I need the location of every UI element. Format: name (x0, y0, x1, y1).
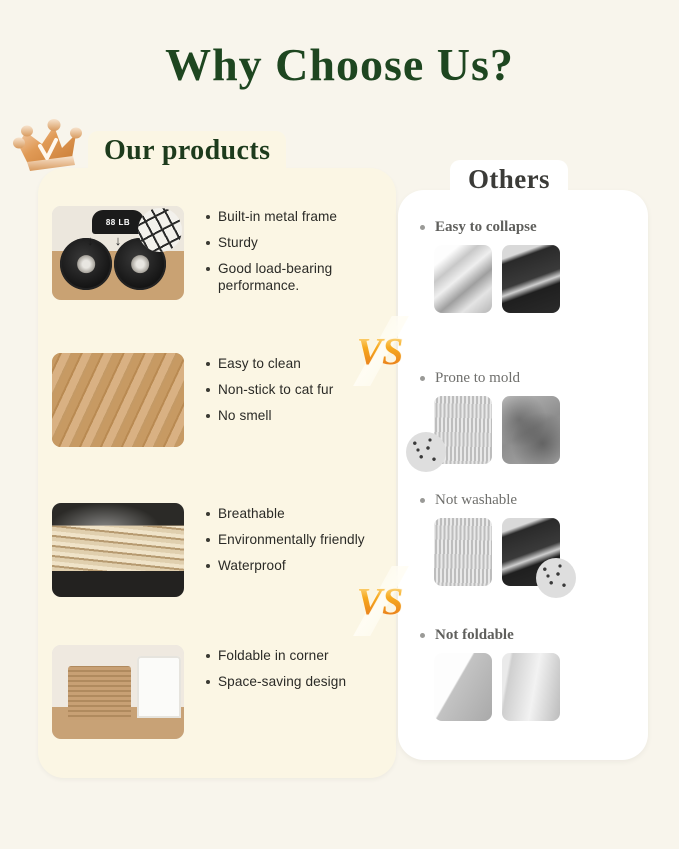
other-row-4-images (420, 653, 635, 721)
list-item-label: Built-in metal frame (218, 208, 337, 225)
list-item-label: Waterproof (218, 557, 286, 574)
ribbed-fabric-photo (434, 518, 492, 586)
list-item: Good load-bearing performance. (206, 260, 388, 294)
svg-text:VS: VS (357, 581, 403, 623)
metal-frame-weights-photo: 88 LB ↓↓↓ (52, 206, 184, 300)
other-row-3-label: Not washable (420, 492, 635, 509)
list-item: Breathable (206, 505, 388, 522)
others-badge: Others (450, 160, 568, 202)
bullet-dot (206, 414, 210, 418)
collapsed-fabric-photo (434, 245, 492, 313)
folded-litter-box-photo (52, 645, 184, 739)
list-item: Built-in metal frame (206, 208, 388, 225)
product-row-2: Easy to clean Non-stick to cat fur No sm… (52, 353, 388, 447)
breathable-weave-photo (52, 503, 184, 597)
list-item-label: Easy to clean (218, 355, 301, 372)
crown-icon (10, 118, 86, 180)
product-row-1: 88 LB ↓↓↓ Built-in metal frame Sturdy Go… (52, 206, 388, 304)
product-row-4: Foldable in corner Space-saving design (52, 645, 388, 739)
other-row-label-text: Prone to mold (435, 370, 520, 387)
list-item-label: Breathable (218, 505, 285, 522)
weight-capacity-badge: 88 LB (92, 210, 144, 234)
dirt-closeup-circle (536, 558, 576, 598)
other-row-label-text: Not washable (435, 492, 517, 509)
vs-badge-2: VS (348, 566, 412, 636)
infographic-page: Why Choose Us? Our products Others (0, 0, 679, 849)
list-item: Sturdy (206, 234, 388, 251)
other-row-1-images (420, 245, 635, 313)
list-item: Environmentally friendly (206, 531, 388, 548)
bullet-dot (206, 267, 210, 271)
other-row-4-label: Not foldable (420, 627, 635, 644)
other-row-2-images (420, 396, 635, 464)
other-row-label-text: Not foldable (435, 627, 514, 644)
bullet-dot (420, 376, 425, 381)
other-row-4: Not foldable (420, 627, 635, 721)
bullet-dot (206, 538, 210, 542)
bullet-dot (206, 241, 210, 245)
bullet-dot (206, 512, 210, 516)
list-item-label: Foldable in corner (218, 647, 329, 664)
other-row-3-images (420, 518, 635, 586)
bullet-dot (206, 215, 210, 219)
bullet-dot (420, 225, 425, 230)
bullet-dot (206, 680, 210, 684)
list-item-label: Space-saving design (218, 673, 346, 690)
list-item-label: Sturdy (218, 234, 258, 251)
vs-badge-1: VS (348, 316, 412, 386)
list-item: No smell (206, 407, 388, 424)
moldy-surface-photo (502, 396, 560, 464)
svg-text:VS: VS (357, 331, 403, 373)
bullet-dot (420, 498, 425, 503)
product-row-4-bullets: Foldable in corner Space-saving design (206, 645, 388, 699)
bullet-dot (206, 654, 210, 658)
bullet-dot (420, 633, 425, 638)
list-item-label: Good load-bearing performance. (218, 260, 388, 294)
list-item: Space-saving design (206, 673, 388, 690)
bullet-dot (206, 388, 210, 392)
other-row-2-label: Prone to mold (420, 370, 635, 387)
other-row-2: Prone to mold (420, 370, 635, 464)
page-title: Why Choose Us? (0, 38, 679, 91)
mold-closeup-circle (406, 432, 446, 472)
list-item-label: No smell (218, 407, 272, 424)
other-row-3: Not washable (420, 492, 635, 586)
list-item: Foldable in corner (206, 647, 388, 664)
collapsed-dark-box-photo (502, 245, 560, 313)
product-row-3: Breathable Environmentally friendly Wate… (52, 503, 388, 597)
list-item-label: Non-stick to cat fur (218, 381, 333, 398)
other-row-label-text: Easy to collapse (435, 219, 537, 236)
product-row-1-bullets: Built-in metal frame Sturdy Good load-be… (206, 206, 388, 304)
rigid-box-side-photo (502, 653, 560, 721)
bullet-dot (206, 564, 210, 568)
our-products-badge: Our products (88, 131, 286, 173)
list-item-label: Environmentally friendly (218, 531, 365, 548)
woven-rattan-texture-photo (52, 353, 184, 447)
rigid-box-photo (434, 653, 492, 721)
metal-frame-inset-icon (138, 208, 182, 252)
other-row-1: Easy to collapse (420, 219, 635, 313)
bullet-dot (206, 362, 210, 366)
other-row-1-label: Easy to collapse (420, 219, 635, 236)
